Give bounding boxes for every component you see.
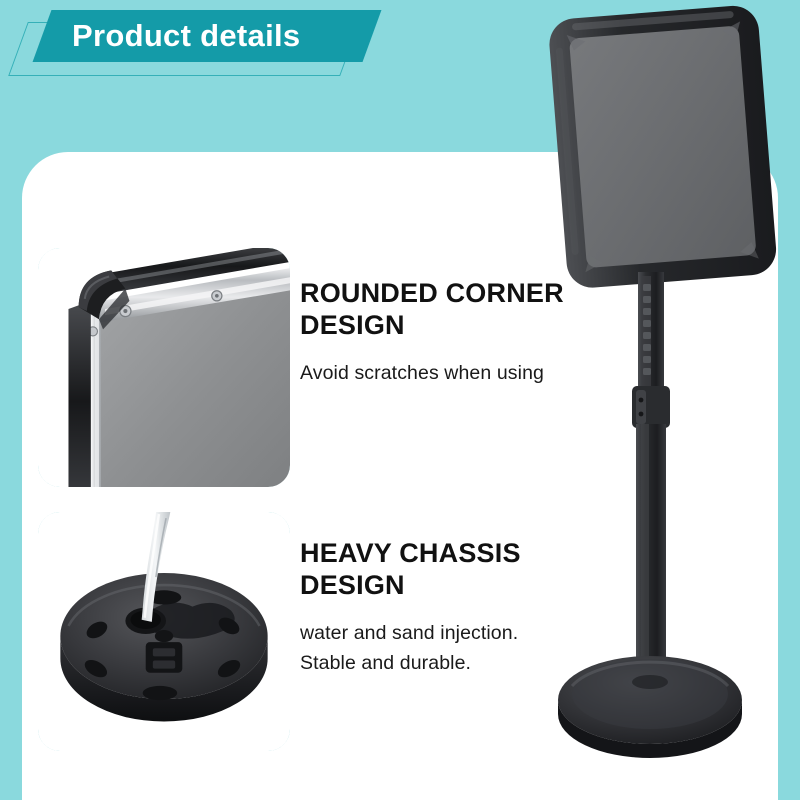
weighted-base-water-icon bbox=[38, 512, 290, 751]
infographic-canvas: Product details bbox=[0, 0, 800, 800]
feature-image-box bbox=[38, 248, 290, 487]
product-photo bbox=[520, 0, 800, 800]
page-title: Product details bbox=[72, 10, 402, 62]
sign-frame bbox=[547, 4, 778, 290]
round-base bbox=[558, 656, 742, 758]
header-banner: Product details bbox=[0, 0, 430, 120]
snap-frame-corner-icon bbox=[38, 248, 290, 487]
telescoping-pole bbox=[632, 272, 670, 684]
feature-image-box bbox=[38, 512, 290, 751]
